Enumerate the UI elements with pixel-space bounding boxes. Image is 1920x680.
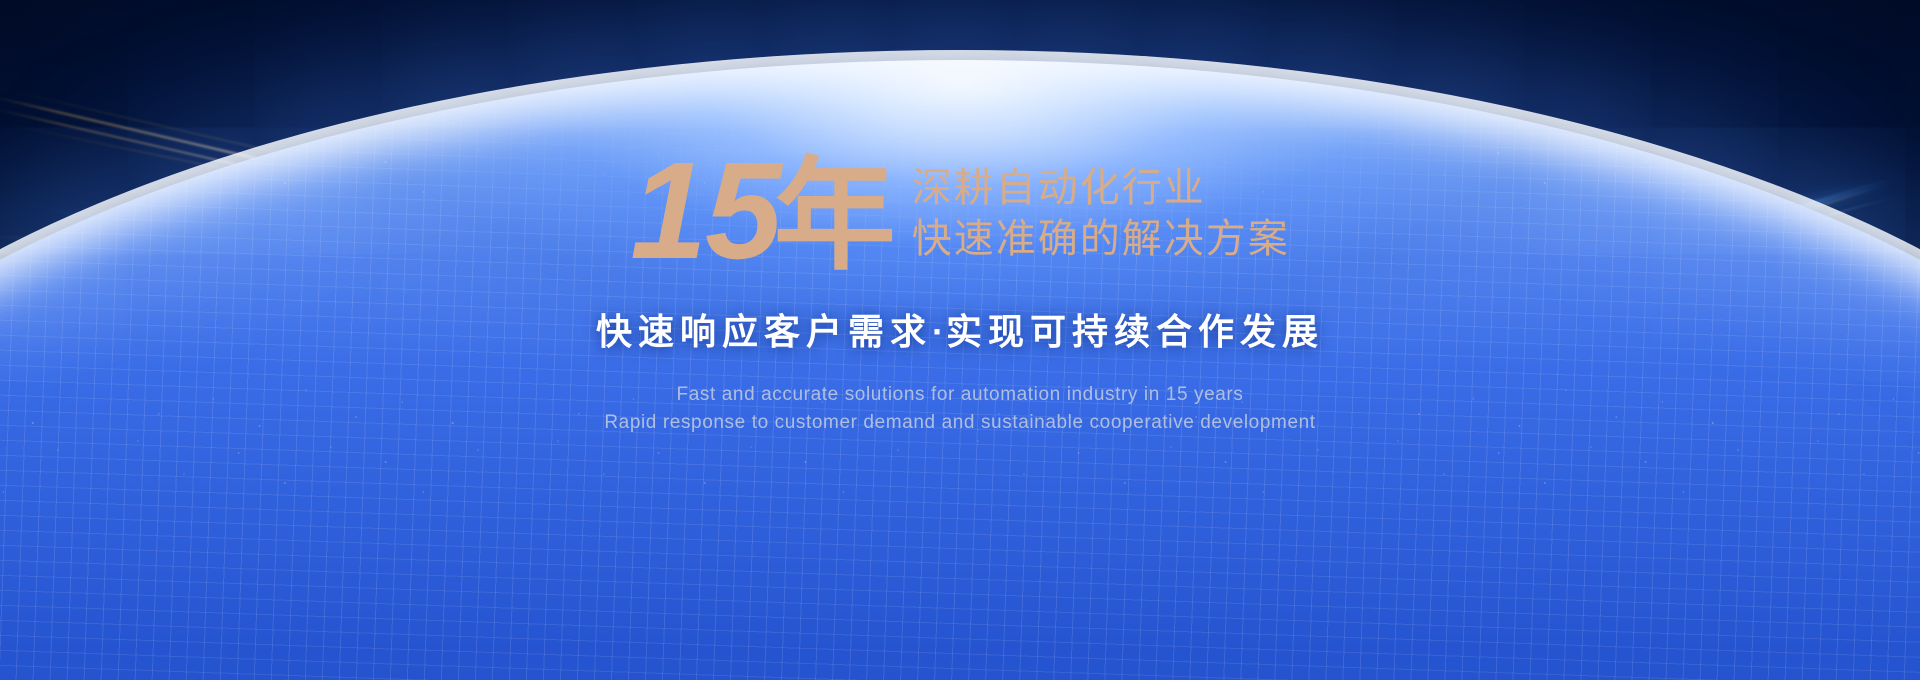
headline-line-1: 深耕自动化行业 (912, 163, 1290, 214)
headline-line-2: 快速准确的解决方案 (912, 214, 1290, 265)
english-line-2: Rapid response to customer demand and su… (0, 409, 1920, 438)
headline-row: 15年 深耕自动化行业 快速准确的解决方案 (0, 148, 1920, 275)
years-badge: 15年 (630, 148, 896, 275)
headline-subtext: 深耕自动化行业 快速准确的解决方案 (912, 157, 1290, 265)
banner-content: 15年 深耕自动化行业 快速准确的解决方案 快速响应客户需求·实现可持续合作发展… (0, 148, 1920, 438)
hero-banner: 15年 深耕自动化行业 快速准确的解决方案 快速响应客户需求·实现可持续合作发展… (0, 0, 1920, 680)
slogan-part-1: 快速响应客户需求 (596, 311, 932, 352)
years-unit: 年 (774, 148, 896, 284)
slogan-part-2: 实现可持续合作发展 (946, 311, 1324, 352)
english-line-1: Fast and accurate solutions for automati… (0, 381, 1920, 410)
years-number: 15 (630, 134, 780, 288)
english-subtitle: Fast and accurate solutions for automati… (0, 381, 1920, 438)
slogan: 快速响应客户需求·实现可持续合作发展 (0, 303, 1920, 355)
slogan-separator: · (932, 311, 946, 352)
